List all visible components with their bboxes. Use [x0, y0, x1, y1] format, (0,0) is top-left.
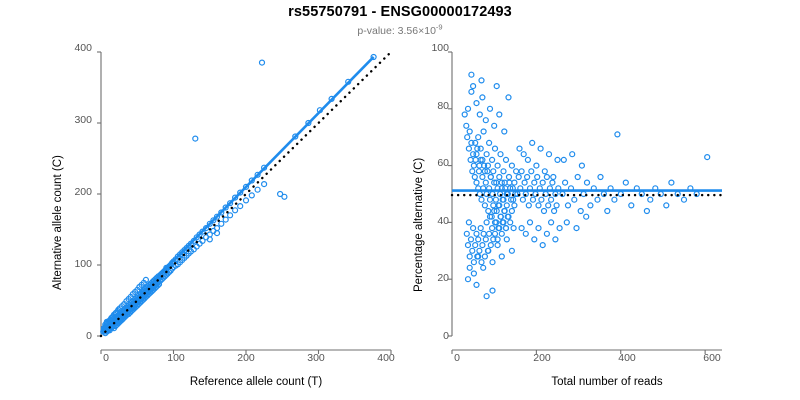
data-point [469, 72, 474, 77]
data-point [526, 203, 531, 208]
data-point [464, 231, 469, 236]
data-point [648, 197, 653, 202]
data-point [474, 101, 479, 106]
data-point [471, 271, 476, 276]
data-point [566, 203, 571, 208]
data-point [282, 194, 287, 199]
data-point [584, 214, 589, 219]
data-point [488, 243, 493, 248]
data-point [466, 277, 471, 282]
data-point [542, 209, 547, 214]
data-point [598, 175, 603, 180]
data-point [487, 231, 492, 236]
data-point [615, 132, 620, 137]
data-point [490, 260, 495, 265]
data-point [494, 84, 499, 89]
data-point [465, 135, 470, 140]
data-point [547, 152, 552, 157]
data-point [473, 243, 478, 248]
data-point [544, 175, 549, 180]
data-point [508, 220, 513, 225]
data-point [525, 157, 530, 162]
data-point [612, 197, 617, 202]
data-point [514, 169, 519, 174]
data-point [238, 204, 243, 209]
data-point [497, 175, 502, 180]
data-point [497, 112, 502, 117]
data-point [512, 203, 517, 208]
data-point [549, 220, 554, 225]
data-point [572, 197, 577, 202]
data-point [552, 209, 557, 214]
data-point [477, 112, 482, 117]
data-point [504, 157, 509, 162]
data-point [473, 157, 478, 162]
data-point [477, 248, 482, 253]
data-point [466, 220, 471, 225]
data-point [483, 180, 488, 185]
data-point [487, 140, 492, 145]
data-point [488, 197, 493, 202]
data-point [549, 197, 554, 202]
data-point [479, 197, 484, 202]
data-point [504, 203, 509, 208]
right-x-axis-title: Total number of reads [452, 376, 762, 388]
data-point [493, 146, 498, 151]
data-point [542, 169, 547, 174]
data-point [481, 265, 486, 270]
right-y-tick-0: 0 [422, 330, 449, 342]
left-y-tick-300: 300 [58, 114, 92, 126]
data-point [540, 180, 545, 185]
data-point [546, 203, 551, 208]
right-x-tick-600: 600 [697, 352, 727, 364]
data-point [525, 175, 530, 180]
identity-line [101, 52, 391, 336]
figure-container: rs55750791 - ENSG00000172493 p-value: 3.… [0, 0, 800, 400]
left-x-tick-0: 0 [91, 352, 121, 364]
data-point [469, 237, 474, 242]
data-point [523, 231, 528, 236]
panel-reference-vs-alternative: Alternative allele count (C) Reference a… [0, 0, 420, 400]
data-point [623, 180, 628, 185]
right-x-tick-400: 400 [612, 352, 642, 364]
data-point [507, 175, 512, 180]
left-x-tick-400: 400 [371, 352, 401, 364]
data-point [563, 180, 568, 185]
data-point [509, 209, 514, 214]
data-point [471, 84, 476, 89]
data-point [501, 169, 506, 174]
data-point [474, 180, 479, 185]
data-point [588, 203, 593, 208]
data-point [664, 203, 669, 208]
data-point [605, 209, 610, 214]
data-points [462, 72, 710, 299]
data-point [539, 197, 544, 202]
data-point [464, 123, 469, 128]
data-point [466, 243, 471, 248]
data-point [482, 254, 487, 259]
data-point [531, 197, 536, 202]
left-x-tick-200: 200 [231, 352, 261, 364]
data-point [483, 237, 488, 242]
data-point [579, 163, 584, 168]
right-y-tick-100: 100 [422, 42, 449, 54]
data-point [219, 221, 224, 226]
right-x-tick-200: 200 [527, 352, 557, 364]
data-point [492, 123, 497, 128]
data-point [516, 175, 521, 180]
data-point [471, 226, 476, 231]
left-y-tick-400: 400 [58, 42, 92, 54]
left-y-tick-200: 200 [58, 186, 92, 198]
data-point [477, 169, 482, 174]
data-point [482, 203, 487, 208]
right-y-tick-60: 60 [422, 157, 449, 169]
data-point [669, 180, 674, 185]
data-point [529, 169, 534, 174]
data-point [491, 169, 496, 174]
data-point [483, 118, 488, 123]
data-point [564, 220, 569, 225]
data-point [511, 226, 516, 231]
data-point [233, 208, 238, 213]
data-point [574, 226, 579, 231]
left-y-tick-0: 0 [58, 330, 92, 342]
data-point [578, 209, 583, 214]
data-point [490, 288, 495, 293]
data-point [538, 146, 543, 151]
data-point [512, 180, 517, 185]
data-point [491, 203, 496, 208]
data-point [255, 187, 260, 192]
data-point [471, 260, 476, 265]
data-point [595, 197, 600, 202]
data-point [522, 180, 527, 185]
panel-reads-vs-percentage: Percentage alternative (C) Total number … [420, 0, 800, 400]
data-point [499, 254, 504, 259]
data-point [484, 152, 489, 157]
data-point [467, 254, 472, 259]
data-point [478, 146, 483, 151]
data-point [466, 146, 471, 151]
regression-line [102, 57, 373, 333]
left-x-tick-100: 100 [161, 352, 191, 364]
data-point [484, 294, 489, 299]
left-y-tick-100: 100 [58, 258, 92, 270]
data-point [502, 129, 507, 134]
data-point [468, 157, 473, 162]
data-point [555, 157, 560, 162]
data-point [480, 243, 485, 248]
data-point [521, 152, 526, 157]
data-point [553, 237, 558, 242]
data-point [575, 175, 580, 180]
data-point [469, 89, 474, 94]
data-point [484, 220, 489, 225]
data-point [509, 248, 514, 253]
data-point [480, 95, 485, 100]
data-point [506, 95, 511, 100]
data-point [534, 163, 539, 168]
data-point [530, 140, 535, 145]
data-point [532, 237, 537, 242]
data-point [479, 78, 484, 83]
data-point [509, 163, 514, 168]
data-point [471, 163, 476, 168]
data-point [478, 226, 483, 231]
data-point [499, 231, 504, 236]
data-point [504, 237, 509, 242]
data-point [479, 260, 484, 265]
data-point [481, 129, 486, 134]
data-point [223, 217, 228, 222]
data-point [532, 180, 537, 185]
data-point [474, 231, 479, 236]
data-point [466, 106, 471, 111]
data-point [215, 226, 220, 231]
left-x-tick-300: 300 [301, 352, 331, 364]
right-x-tick-0: 0 [442, 352, 472, 364]
data-point [498, 152, 503, 157]
data-point [488, 175, 493, 180]
data-point [536, 226, 541, 231]
data-point [557, 226, 562, 231]
data-point [520, 197, 525, 202]
data-point [474, 282, 479, 287]
data-point [535, 175, 540, 180]
data-point [554, 203, 559, 208]
data-point [705, 155, 710, 160]
right-y-tick-20: 20 [422, 272, 449, 284]
data-point [528, 220, 533, 225]
data-point [540, 243, 545, 248]
data-point [519, 169, 524, 174]
data-point [519, 226, 524, 231]
data-point [517, 146, 522, 151]
data-point [495, 243, 500, 248]
data-point [486, 209, 491, 214]
data-point [480, 175, 485, 180]
data-point [474, 152, 479, 157]
data-point [467, 265, 472, 270]
right-y-tick-80: 80 [422, 100, 449, 112]
data-point [488, 106, 493, 111]
data-point [490, 226, 495, 231]
data-point [476, 135, 481, 140]
data-point [550, 180, 555, 185]
data-point [193, 136, 198, 141]
data-point [544, 231, 549, 236]
data-point [570, 152, 575, 157]
scatter-plot-right [420, 0, 800, 400]
data-point [629, 203, 634, 208]
data-point [682, 197, 687, 202]
data-point [561, 157, 566, 162]
data-point [493, 231, 498, 236]
data-point [585, 180, 590, 185]
data-point [644, 209, 649, 214]
data-point [228, 213, 233, 218]
data-point [262, 182, 267, 187]
data-point [244, 198, 249, 203]
data-point [551, 175, 556, 180]
data-point [470, 248, 475, 253]
data-point [504, 226, 509, 231]
data-point [462, 112, 467, 117]
data-point [495, 163, 500, 168]
data-point [467, 129, 472, 134]
data-point [476, 237, 481, 242]
data-point [472, 175, 477, 180]
data-point [481, 231, 486, 236]
left-x-axis-title: Reference allele count (T) [101, 376, 411, 388]
data-point [490, 157, 495, 162]
data-point [260, 60, 265, 65]
data-point [493, 197, 498, 202]
data-point [470, 169, 475, 174]
right-y-tick-40: 40 [422, 215, 449, 227]
data-point [249, 193, 254, 198]
data-point [536, 203, 541, 208]
